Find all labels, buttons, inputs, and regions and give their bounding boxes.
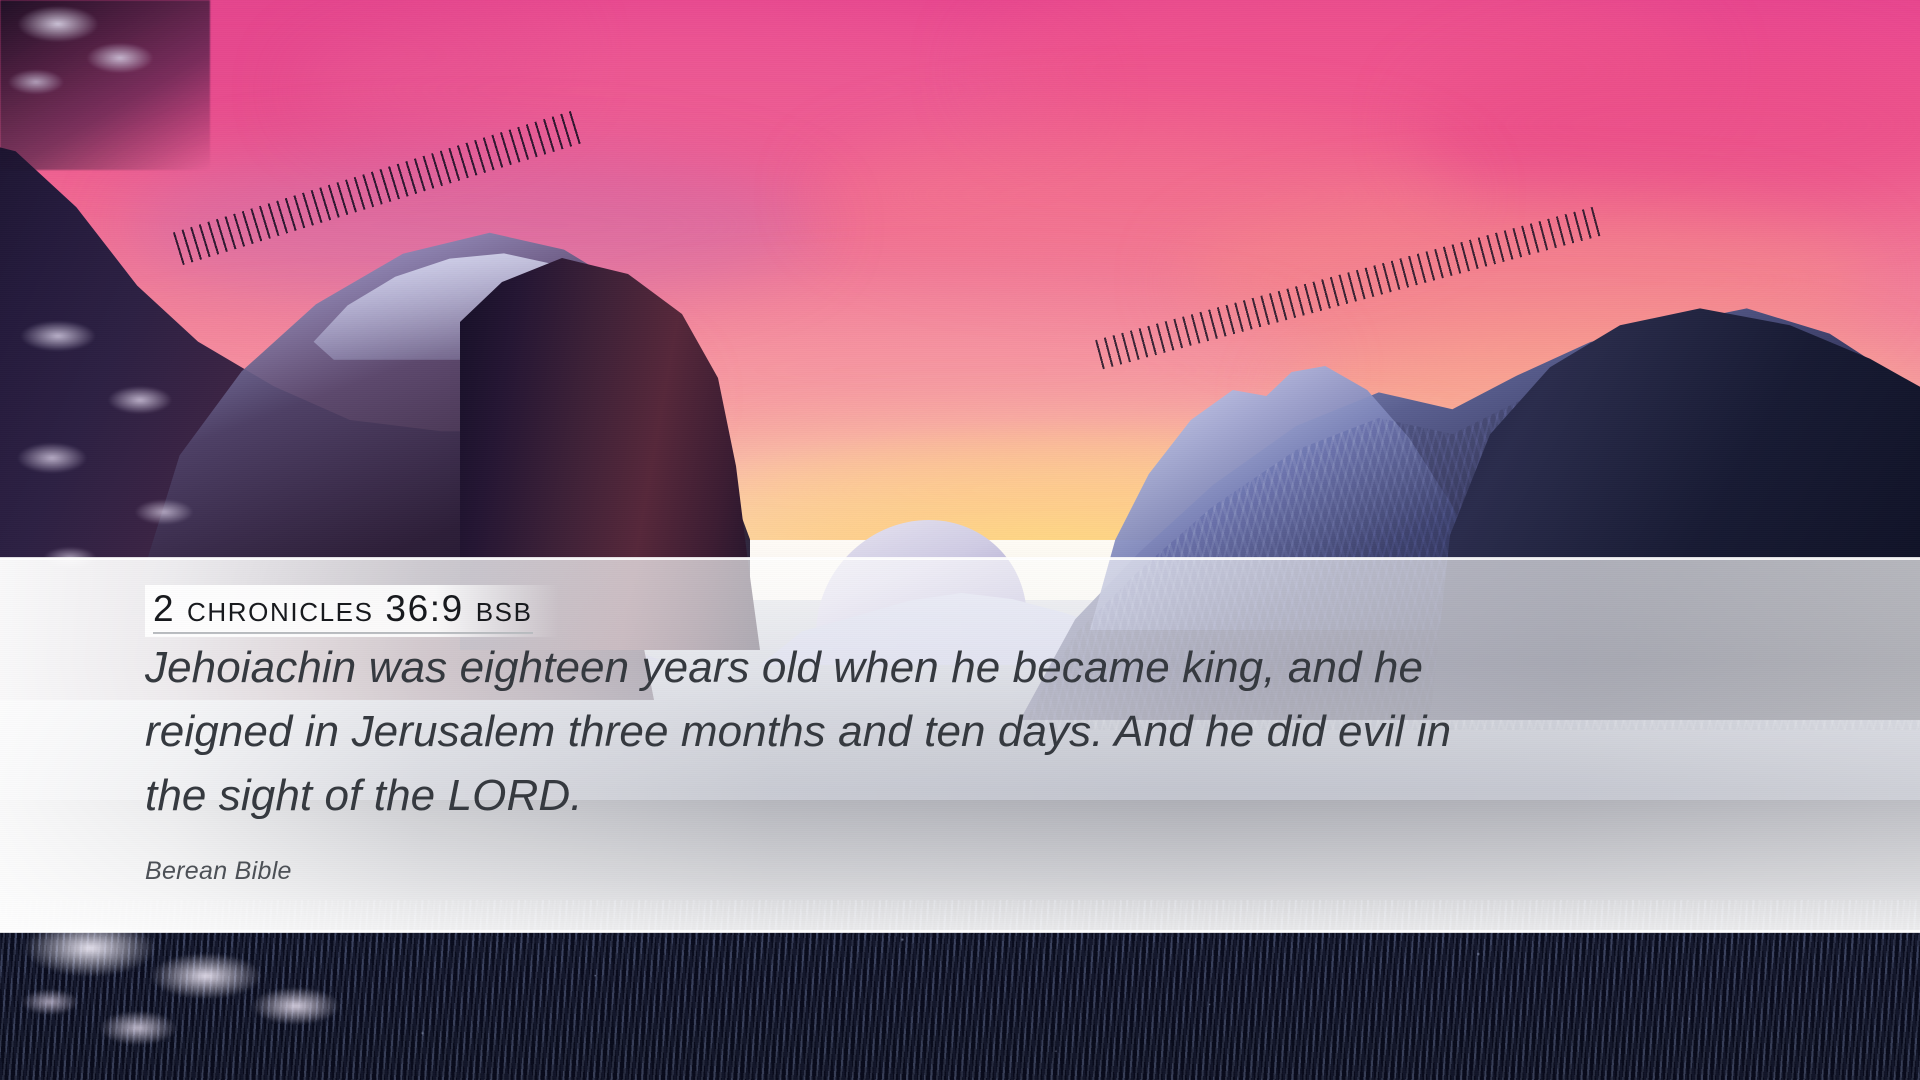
verse-line: Jehoiachin was eighteen years old when h…: [145, 636, 1765, 700]
verse-line: the sight of the LORD.: [145, 764, 1765, 828]
verse-line: reigned in Jerusalem three months and te…: [145, 700, 1765, 764]
verse-text-block: Jehoiachin was eighteen years old when h…: [145, 636, 1765, 829]
reference-badge: 2 Chronicles 36:9 BSB: [145, 585, 559, 637]
right-ridge-treeline: [1092, 206, 1602, 370]
verse-wallpaper: 2 Chronicles 36:9 BSB Jehoiachin was eig…: [0, 0, 1920, 1080]
verse-attribution: Berean Bible: [145, 857, 292, 886]
snow-laden-bough: [10, 910, 390, 1080]
top-left-snowy-tree: [0, 0, 210, 170]
verse-card: 2 Chronicles 36:9 BSB Jehoiachin was eig…: [0, 558, 1920, 932]
verse-reference: 2 Chronicles 36:9 BSB: [153, 589, 533, 634]
